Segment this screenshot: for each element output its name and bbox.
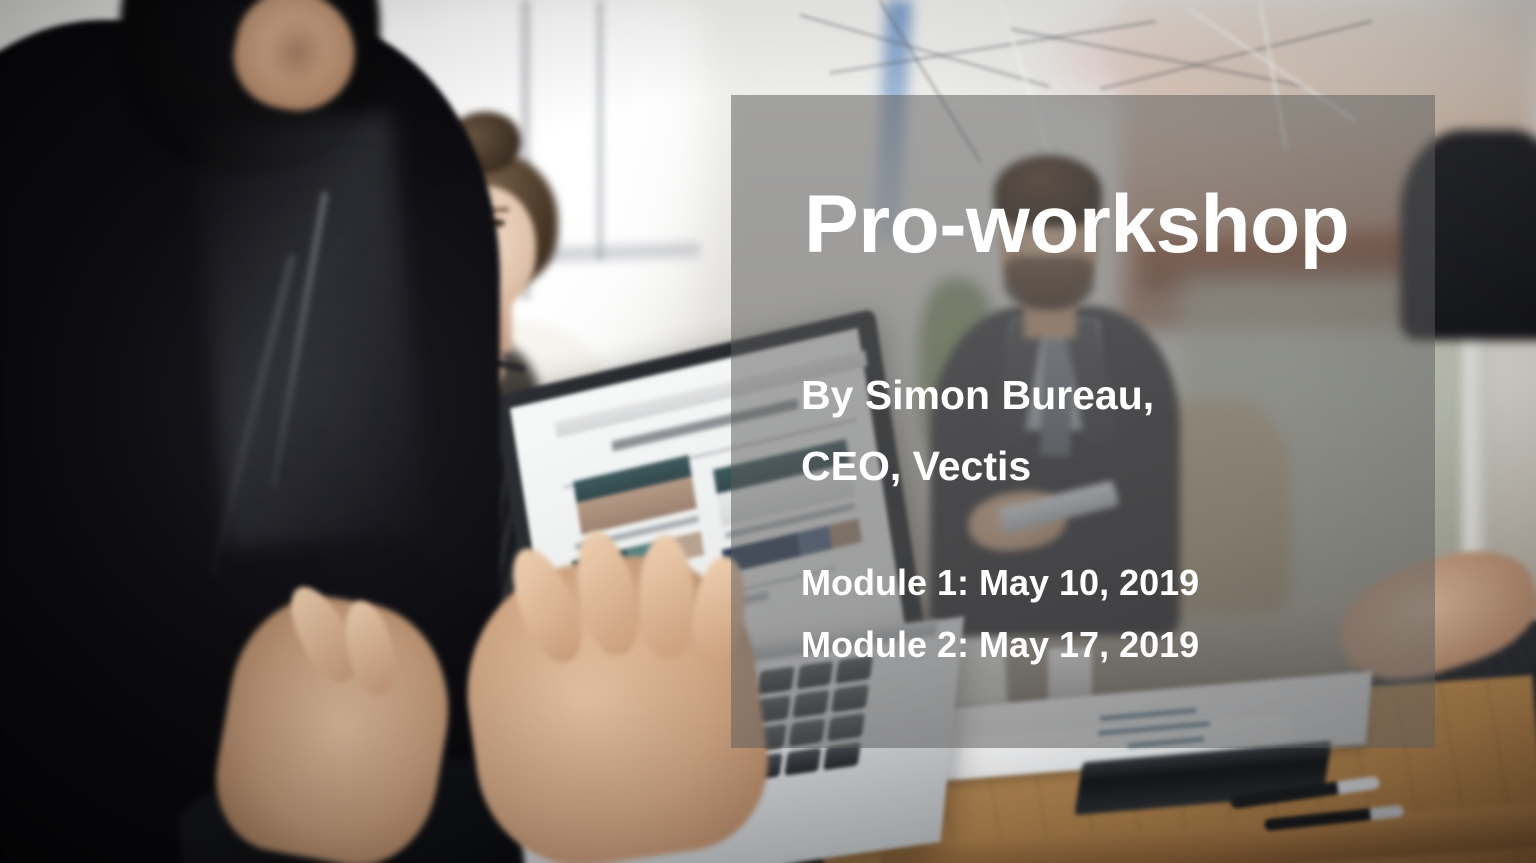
module-date-item: Module 2: May 17, 2019	[801, 614, 1199, 676]
jacket-highlight	[192, 112, 428, 548]
presenter-byline: By Simon Bureau, CEO, Vectis	[801, 360, 1154, 501]
window-mullion	[596, 0, 604, 260]
keyboard-key	[784, 747, 822, 776]
page-title: Pro-workshop	[804, 184, 1349, 266]
presentation-slide: Pro-workshop By Simon Bureau, CEO, Vecti…	[0, 0, 1536, 863]
module-dates-list: Module 1: May 10, 2019 Module 2: May 17,…	[801, 552, 1199, 676]
module-date-item: Module 1: May 10, 2019	[801, 552, 1199, 614]
foreground-person-ear-inner	[265, 16, 327, 86]
title-overlay-panel: Pro-workshop By Simon Bureau, CEO, Vecti…	[731, 95, 1435, 748]
